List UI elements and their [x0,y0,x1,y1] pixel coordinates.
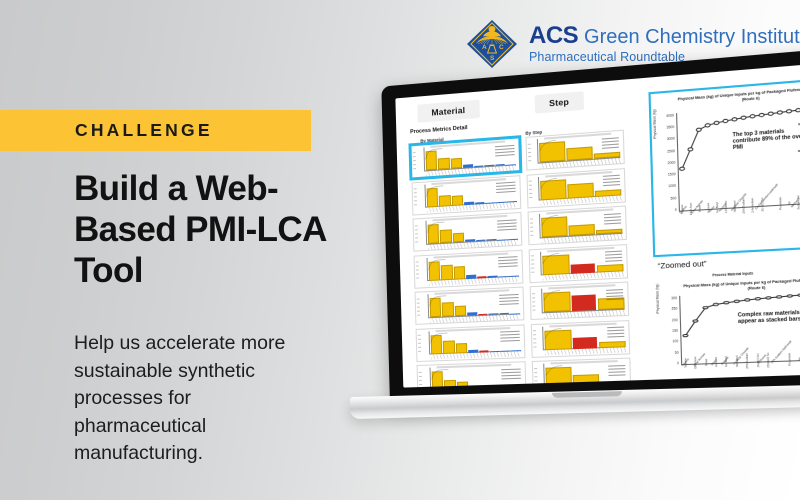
acs-diamond-logo-icon: A C S [463,14,521,72]
material-mini-chart[interactable] [412,175,522,215]
mini-bar [455,305,467,316]
mini-bar [453,233,465,243]
chart-callout: Complex raw materials appear as stacked … [735,307,800,327]
chart-ylabel: Physical Mass (kg) [655,284,660,314]
mini-bar [571,295,596,312]
mini-bar [566,146,593,161]
svg-text:A: A [482,44,487,51]
laptop-screen: Material Step Process Metrics Detail By … [395,63,800,387]
zoomed-in-label: “Zoomed In” [661,377,706,388]
mini-bar [454,266,466,280]
material-mini-chart[interactable] [413,212,523,252]
panel-caption: Process Material Inputs [712,271,753,277]
challenge-badge-label: CHALLENGE [75,120,213,141]
laptop-lid: Material Step Process Metrics Detail By … [381,48,800,404]
mini-bar [567,183,594,199]
pmi-dashboard: Material Step Process Metrics Detail By … [395,63,800,387]
chart-ylabel: Physical Mass (kg) [652,109,657,139]
chart-callout: The top 3 materials contribute 89% of th… [730,124,800,153]
mini-bar [457,381,469,387]
material-mini-chart[interactable] [416,324,526,362]
step-mini-chart[interactable] [527,168,626,208]
chart-zoomed-out: Physical Mass (kg) of Unique Inputs per … [651,80,800,256]
material-chart-column [411,137,527,387]
material-mini-chart[interactable] [417,361,527,387]
mini-bar [573,374,600,387]
logo-institute-text: Green Chemistry Institute [584,26,800,48]
mini-bar [451,158,463,169]
step-mini-chart[interactable] [531,320,631,358]
step-mini-chart[interactable] [528,206,627,246]
svg-text:S: S [490,55,495,62]
dashboard-tabs: Material Step [417,91,584,123]
chart-xlabels: TolueneEthyl AcetateWaterAcetoneIso Buty… [679,204,800,252]
chart-xlabels: TolueneEthyl AcetateWaterAcetoneIso Buty… [681,360,800,388]
mini-bar [456,343,468,353]
zoomed-in-panel[interactable]: Physical Mass (kg) of Unique Inputs per … [654,273,800,387]
body-copy: Help us accelerate more sustainable synt… [74,330,324,468]
section-title: Process Metrics Detail [410,125,468,135]
material-mini-chart[interactable] [411,137,521,178]
laptop-mockup: Material Step Process Metrics Detail By … [352,86,800,456]
zoomed-out-panel[interactable]: Physical Mass (kg) of Unique Inputs per … [648,77,800,257]
material-mini-chart[interactable] [415,287,525,325]
mini-bar [600,381,627,386]
chart-yticks: 40003500300025002000150010005000 [660,113,677,212]
page-title: Build a Web-Based PMI-LCA Tool [74,168,334,291]
chart-yticks: 300250200150100500 [663,296,679,366]
chart-zoomed-in: Physical Mass (kg) of Unique Inputs per … [654,273,800,387]
tab-material[interactable]: Material [417,100,479,123]
challenge-badge: CHALLENGE [0,110,311,151]
mini-bar [572,337,597,349]
step-mini-chart[interactable] [525,130,624,171]
step-mini-chart[interactable] [529,244,628,283]
step-chart-column [525,130,631,388]
step-mini-chart[interactable] [532,358,632,388]
mini-bar [452,195,464,206]
svg-text:C: C [499,44,504,51]
material-mini-chart[interactable] [414,249,524,288]
logo-acs-text: ACS [529,22,578,49]
step-mini-chart[interactable] [530,282,629,321]
tab-step[interactable]: Step [534,91,584,113]
zoomed-out-label: “Zoomed out” [658,259,707,271]
